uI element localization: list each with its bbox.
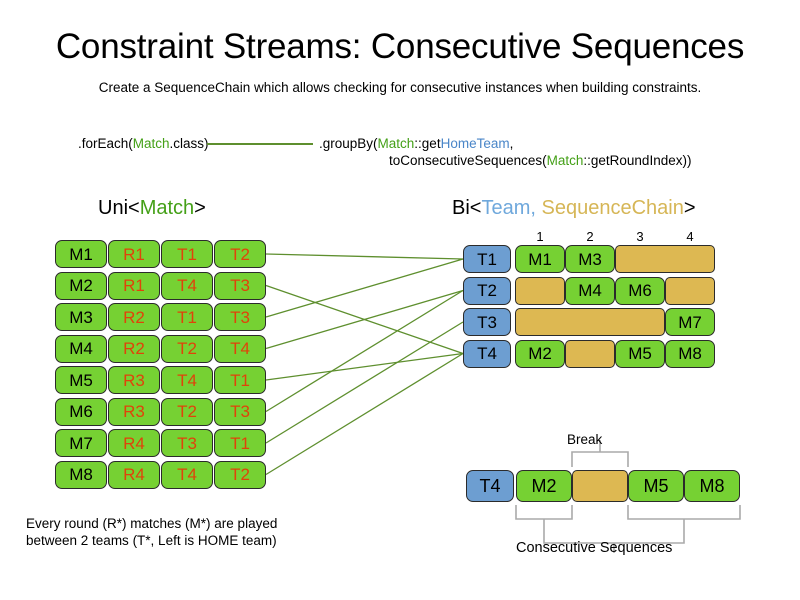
sequence-cell-label: M7 <box>678 314 702 331</box>
cell-label: T3 <box>230 277 250 294</box>
match-cell-round: R2 <box>108 303 160 331</box>
match-cell-id: M5 <box>55 366 107 394</box>
match-cell-round: R1 <box>108 240 160 268</box>
sequence-cell-filled: M8 <box>665 340 715 368</box>
sequence-cell-gap <box>515 277 565 305</box>
match-cell-id: M3 <box>55 303 107 331</box>
match-cell-round: R3 <box>108 366 160 394</box>
cell-label: M1 <box>69 246 93 263</box>
team-label: T4 <box>477 345 497 362</box>
detail-cell-gap <box>572 470 628 502</box>
sequence-cell-label: M4 <box>578 282 602 299</box>
cell-label: R4 <box>123 435 145 452</box>
sequence-column-header: 1 <box>525 229 555 244</box>
match-cell-home-team: T4 <box>161 272 213 300</box>
match-cell-away-team: T3 <box>214 398 266 426</box>
match-cell-away-team: T2 <box>214 461 266 489</box>
cell-label: T4 <box>177 372 197 389</box>
sequence-cell-filled: M6 <box>615 277 665 305</box>
match-cell-home-team: T2 <box>161 335 213 363</box>
match-cell-away-team: T1 <box>214 366 266 394</box>
cell-label: T2 <box>177 403 197 420</box>
match-cell-id: M8 <box>55 461 107 489</box>
match-cell-round: R4 <box>108 429 160 457</box>
sequence-team-chip: T1 <box>463 245 511 273</box>
match-cell-id: M6 <box>55 398 107 426</box>
footer-caption: Every round (R*) matches (M*) are played… <box>26 515 277 549</box>
detail-cell-filled: M2 <box>516 470 572 502</box>
detail-cell-filled: M8 <box>684 470 740 502</box>
cell-label: T4 <box>230 340 250 357</box>
cell-label: M7 <box>69 435 93 452</box>
cell-label: R2 <box>123 309 145 326</box>
cell-label: T3 <box>230 309 250 326</box>
cell-label: R2 <box>123 340 145 357</box>
match-cell-home-team: T4 <box>161 366 213 394</box>
cell-label: T3 <box>177 435 197 452</box>
caption-line-2: between 2 teams (T*, Left is HOME team) <box>26 532 277 549</box>
match-cell-id: M4 <box>55 335 107 363</box>
sequence-column-header: 2 <box>575 229 605 244</box>
sequence-cell-filled: M4 <box>565 277 615 305</box>
sequence-team-chip: T3 <box>463 308 511 336</box>
match-cell-id: M2 <box>55 272 107 300</box>
match-cell-round: R4 <box>108 461 160 489</box>
sequence-cell-filled: M7 <box>665 308 715 336</box>
sequence-cell-filled: M3 <box>565 245 615 273</box>
match-cell-round: R1 <box>108 272 160 300</box>
match-cell-away-team: T3 <box>214 303 266 331</box>
cell-label: T2 <box>177 340 197 357</box>
team-label: T3 <box>477 314 497 331</box>
cell-label: M2 <box>69 277 93 294</box>
match-cell-id: M7 <box>55 429 107 457</box>
sequence-cell-filled: M1 <box>515 245 565 273</box>
sequence-cell-label: M2 <box>528 345 552 362</box>
cell-label: T1 <box>177 309 197 326</box>
match-cell-home-team: T2 <box>161 398 213 426</box>
cell-label: R1 <box>123 246 145 263</box>
cell-label: T3 <box>230 403 250 420</box>
cell-label: T2 <box>230 466 250 483</box>
sequence-cell-label: M1 <box>528 251 552 268</box>
consecutive-sequences-label: Consecutive Sequences <box>516 540 672 557</box>
sequence-cell-label: M8 <box>678 345 702 362</box>
cell-label: T4 <box>177 466 197 483</box>
detail-cell-filled: M5 <box>628 470 684 502</box>
detail-team-label: T4 <box>479 478 500 495</box>
sequence-cell-gap <box>515 308 665 336</box>
sequence-cell-gap <box>615 245 715 273</box>
sequence-team-chip: T4 <box>463 340 511 368</box>
cell-label: R3 <box>123 372 145 389</box>
team-label: T2 <box>477 282 497 299</box>
match-cell-home-team: T3 <box>161 429 213 457</box>
caption-line-1: Every round (R*) matches (M*) are played <box>26 515 277 532</box>
cell-label: T4 <box>177 277 197 294</box>
detail-cell-label: M5 <box>643 478 668 495</box>
sequence-cell-label: M6 <box>628 282 652 299</box>
sequence-cell-label: M3 <box>578 251 602 268</box>
match-cell-home-team: T4 <box>161 461 213 489</box>
match-cell-id: M1 <box>55 240 107 268</box>
match-cell-round: R2 <box>108 335 160 363</box>
match-cell-round: R3 <box>108 398 160 426</box>
cell-label: M6 <box>69 403 93 420</box>
sequence-team-chip: T2 <box>463 277 511 305</box>
detail-team-chip: T4 <box>466 470 514 502</box>
detail-cell-label: M2 <box>531 478 556 495</box>
cell-label: T1 <box>230 435 250 452</box>
sequence-column-header: 3 <box>625 229 655 244</box>
sequence-cell-gap <box>565 340 615 368</box>
match-cell-away-team: T4 <box>214 335 266 363</box>
cell-label: T2 <box>230 246 250 263</box>
team-label: T1 <box>477 251 497 268</box>
slide-canvas: Constraint Streams: Consecutive Sequence… <box>0 0 800 600</box>
match-cell-away-team: T1 <box>214 429 266 457</box>
match-cell-away-team: T2 <box>214 240 266 268</box>
sequence-cell-label: M5 <box>628 345 652 362</box>
cell-label: R1 <box>123 277 145 294</box>
sequence-cell-gap <box>665 277 715 305</box>
match-cell-home-team: T1 <box>161 240 213 268</box>
cell-label: T1 <box>177 246 197 263</box>
cell-label: R3 <box>123 403 145 420</box>
sequence-cell-filled: M5 <box>615 340 665 368</box>
cell-label: T1 <box>230 372 250 389</box>
cell-label: R4 <box>123 466 145 483</box>
cell-label: M8 <box>69 466 93 483</box>
detail-cell-label: M8 <box>699 478 724 495</box>
match-cell-away-team: T3 <box>214 272 266 300</box>
match-cell-home-team: T1 <box>161 303 213 331</box>
sequence-cell-filled: M2 <box>515 340 565 368</box>
cell-label: M5 <box>69 372 93 389</box>
sequence-column-header: 4 <box>675 229 705 244</box>
cell-label: M3 <box>69 309 93 326</box>
cell-label: M4 <box>69 340 93 357</box>
break-label: Break <box>567 432 602 448</box>
